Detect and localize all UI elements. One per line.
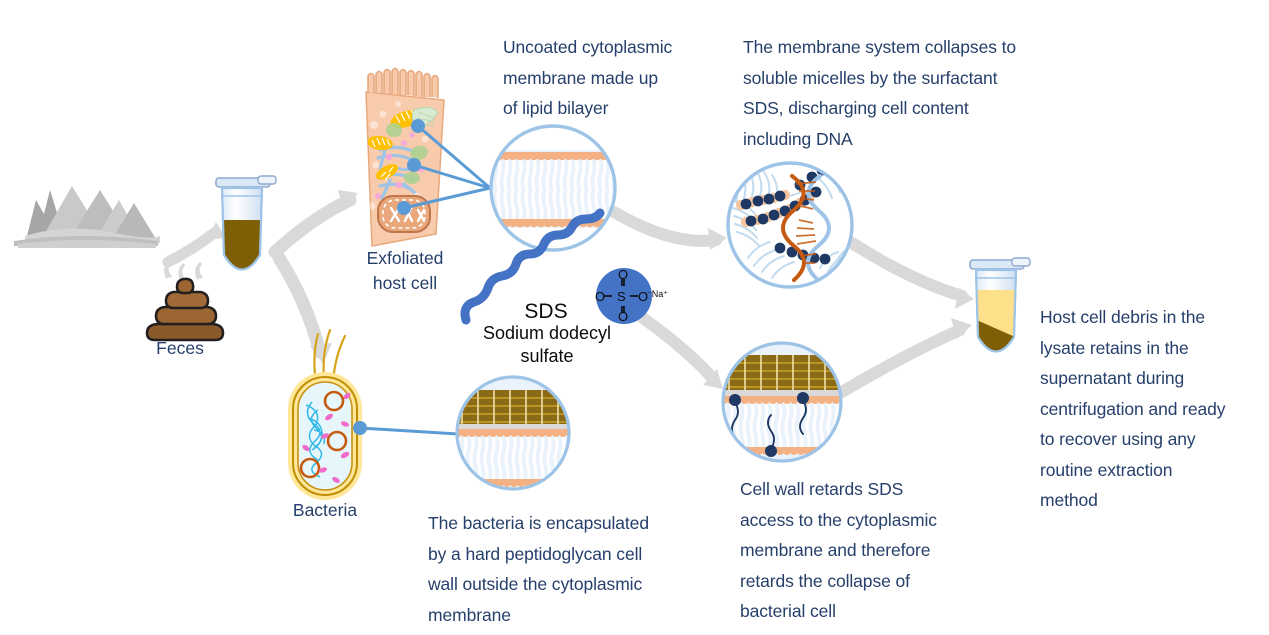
microcentrifuge-tube-centrifuged	[970, 258, 1030, 372]
bacterial-membrane-sds-closeup	[720, 343, 843, 461]
label-sds-full-name: Sodium dodecyl sulfate	[452, 322, 642, 368]
sds-oxygen-top-label: O	[618, 267, 628, 282]
label-feces: Feces	[132, 336, 228, 361]
dna-helix	[783, 176, 829, 280]
bacteria-callout-connector	[353, 421, 458, 435]
mountain-landscape-icon	[14, 186, 160, 248]
diagram-canvas: O O S O O ⁻Na⁺ Uncoated cytoplasmic memb…	[0, 0, 1269, 635]
label-bacteria: Bacteria	[272, 498, 378, 523]
sds-sodium-label: ⁻Na⁺	[647, 289, 668, 299]
microcentrifuge-tube-sample	[216, 176, 276, 290]
caption-host-debris: Host cell debris in the lysate retains i…	[1040, 302, 1265, 516]
sds-oxygen-right-label: O	[638, 289, 648, 304]
bacterial-cell-wall-membrane-closeup	[454, 377, 574, 489]
exfoliated-host-cell-illustration	[360, 69, 490, 251]
caption-cell-wall-retards: Cell wall retards SDS access to the cyto…	[740, 474, 990, 627]
label-sds-abbrev: SDS	[466, 300, 626, 323]
caption-membrane-collapse: The membrane system collapses to soluble…	[743, 32, 1063, 154]
bacteria-cell-illustration	[288, 330, 458, 500]
collapsed-membrane-dna-closeup	[728, 163, 854, 287]
lipid-bilayer-closeup	[488, 126, 619, 250]
caption-bacteria-encapsulated: The bacteria is encapsulated by a hard p…	[428, 508, 698, 630]
caption-uncoated-membrane: Uncoated cytoplasmic membrane made up of…	[503, 32, 718, 124]
sds-intruders	[729, 392, 809, 457]
feces-icon	[147, 262, 223, 340]
host-cell-callout-connector	[397, 119, 490, 215]
label-exfoliated-host-cell: Exfoliated host cell	[340, 246, 470, 296]
